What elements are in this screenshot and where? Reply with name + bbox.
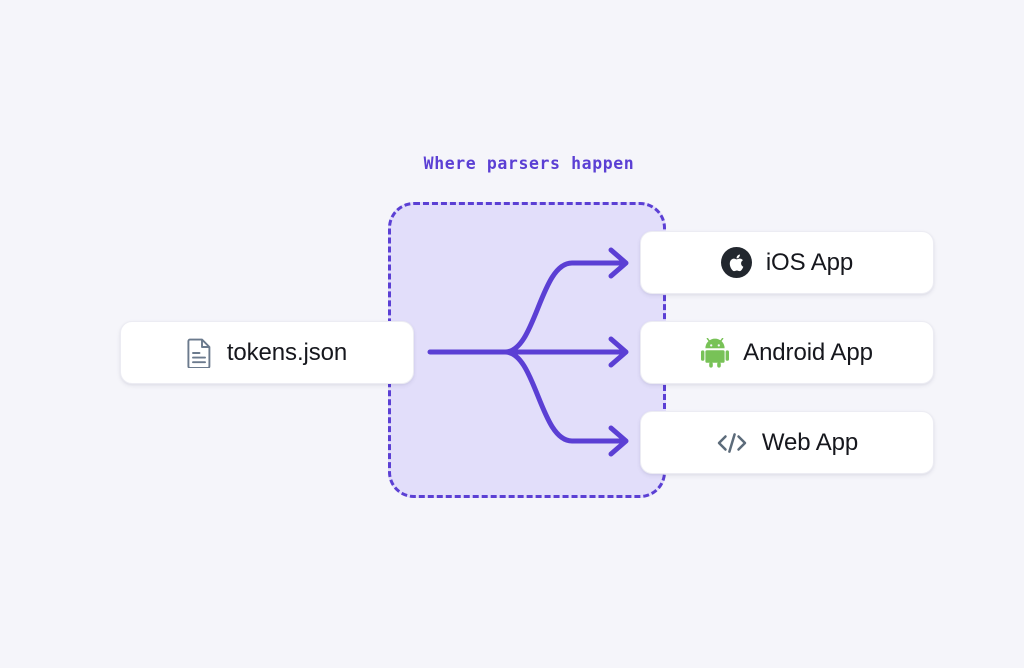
card-source-tokens-json[interactable]: tokens.json: [120, 321, 414, 384]
card-output-label: Android App: [743, 339, 873, 367]
card-output-label: iOS App: [766, 249, 853, 277]
apple-icon: [721, 247, 752, 278]
code-brackets-icon: [716, 430, 748, 456]
card-output-web[interactable]: Web App: [640, 411, 934, 474]
android-icon: [701, 338, 729, 368]
card-source-label: tokens.json: [227, 339, 347, 367]
card-output-android[interactable]: Android App: [640, 321, 934, 384]
document-icon: [187, 338, 213, 368]
card-output-ios[interactable]: iOS App: [640, 231, 934, 294]
diagram-canvas: Where parsers happen: [0, 0, 1024, 668]
parser-zone-box: [388, 202, 666, 498]
card-output-label: Web App: [762, 429, 858, 457]
parser-zone-label: Where parsers happen: [414, 154, 644, 173]
